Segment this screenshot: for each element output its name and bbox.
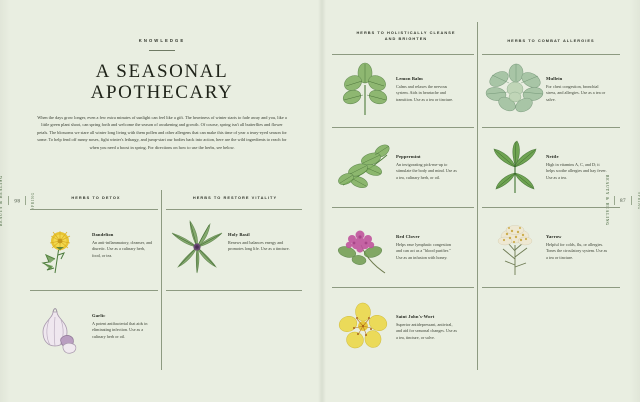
entry-description: Renews and balances energy and promotes … <box>228 240 290 254</box>
dandelion-text: Dandelion An anti-inflammatory, cleanser… <box>92 216 154 260</box>
entry-peppermint: Peppermint An invigorating pick-me-up to… <box>334 138 476 200</box>
entry-description: Helpful for colds, flu, or allergies. To… <box>546 242 608 262</box>
column-heading-line-1: HERBS TO HOLISTICALLY CLEANSE <box>356 30 455 35</box>
intro-paragraph: When the days grow longer, even a few ex… <box>36 114 288 151</box>
entry-holy-basil: Holy Basil Renews and balances energy an… <box>166 216 302 278</box>
rail-page-number-left: 86 <box>14 198 20 204</box>
red-clover-illustration <box>334 218 396 280</box>
column-rule <box>332 207 474 208</box>
entry-yarrow: Yarrow Helpful for colds, flu, or allerg… <box>484 218 622 280</box>
masthead: KNOWLEDGE A SEASONAL APOTHECARY <box>36 38 288 104</box>
entry-description: For chest congestion, bronchial stress, … <box>546 84 608 104</box>
holy-basil-illustration <box>166 216 228 278</box>
eyebrow-rule <box>149 50 175 51</box>
entry-name: Dandelion <box>92 232 154 237</box>
lemon-balm-text: Lemon Balm Calms and relaxes the nervous… <box>396 60 458 104</box>
entry-red-clover: Red Clover Helps ease lymphatic congesti… <box>334 218 476 280</box>
garlic-text: Garlic A potent antibacterial that aids … <box>92 297 154 341</box>
entry-mullein: Mullein For chest congestion, bronchial … <box>484 60 622 122</box>
entry-name: Lemon Balm <box>396 76 458 81</box>
mullein-illustration <box>484 60 546 122</box>
column-heading-vitality: HERBS TO RESTORE VITALITY <box>170 195 300 201</box>
column-divider <box>477 22 478 370</box>
left-page-margin-rail: BEAUTY & HEALING 86 Spring <box>4 0 30 402</box>
entry-description: An anti-inflammatory, cleanser, and diur… <box>92 240 154 260</box>
peppermint-text: Peppermint An invigorating pick-me-up to… <box>396 138 458 182</box>
column-rule <box>332 54 474 55</box>
peppermint-illustration <box>334 138 396 200</box>
column-heading-detox: HERBS TO DETOX <box>36 195 156 201</box>
entry-nettle: Nettle High in vitamins A, C, and D; it … <box>484 138 622 200</box>
saint-johns-wort-illustration <box>334 298 396 360</box>
column-rule <box>332 287 474 288</box>
yarrow-illustration <box>484 218 546 280</box>
book-spread: BEAUTY & HEALING 86 Spring KNOWLEDGE A S… <box>0 0 640 402</box>
column-heading-line-2: AND BRIGHTEN <box>385 36 427 41</box>
column-rule <box>482 207 620 208</box>
entry-description: An invigorating pick-me-up to stimulate … <box>396 162 458 182</box>
nettle-text: Nettle High in vitamins A, C, and D; it … <box>546 138 608 182</box>
garlic-illustration <box>30 297 92 359</box>
rail-section-left: BEAUTY & HEALING <box>0 175 3 226</box>
column-heading-allergies: HERBS TO COMBAT ALLERGIES <box>487 38 615 44</box>
entry-name: Yarrow <box>546 234 608 239</box>
entry-lemon-balm: Lemon Balm Calms and relaxes the nervous… <box>334 60 476 122</box>
saint-johns-wort-text: Saint John's-Wort Superior antidepressan… <box>396 298 458 342</box>
lemon-balm-illustration <box>334 60 396 122</box>
page-title-line-1: A SEASONAL <box>96 61 229 82</box>
column-rule <box>482 287 620 288</box>
column-rule <box>30 209 158 210</box>
mullein-text: Mullein For chest congestion, bronchial … <box>546 60 608 104</box>
entry-name: Nettle <box>546 154 608 159</box>
entry-garlic: Garlic A potent antibacterial that aids … <box>30 297 160 359</box>
entry-dandelion: Dandelion An anti-inflammatory, cleanser… <box>30 216 160 278</box>
left-page: BEAUTY & HEALING 86 Spring KNOWLEDGE A S… <box>0 0 322 402</box>
entry-description: Superior antidepressant, antiviral, and … <box>396 322 458 342</box>
column-rule <box>30 290 158 291</box>
column-heading-cleanse: HERBS TO HOLISTICALLY CLEANSE AND BRIGHT… <box>336 30 476 42</box>
column-rule <box>332 127 474 128</box>
entry-name: Garlic <box>92 313 154 318</box>
eyebrow-label: KNOWLEDGE <box>36 38 288 43</box>
rail-divider <box>8 197 9 206</box>
holy-basil-text: Holy Basil Renews and balances energy an… <box>228 216 290 253</box>
rail-divider <box>25 197 26 206</box>
entry-saint-johns-wort: Saint John's-Wort Superior antidepressan… <box>334 298 476 360</box>
entry-name: Peppermint <box>396 154 458 159</box>
nettle-illustration <box>484 138 546 200</box>
entry-name: Red Clover <box>396 234 458 239</box>
column-divider <box>161 190 162 370</box>
entry-name: Holy Basil <box>228 232 290 237</box>
rail-divider <box>631 196 632 205</box>
column-rule <box>166 290 302 291</box>
entry-description: High in vitamins A, C, and D; it helps s… <box>546 162 608 182</box>
dandelion-illustration <box>30 216 92 278</box>
column-rule <box>482 54 620 55</box>
red-clover-text: Red Clover Helps ease lymphatic congesti… <box>396 218 458 262</box>
yarrow-text: Yarrow Helpful for colds, flu, or allerg… <box>546 218 608 262</box>
entry-name: Saint John's-Wort <box>396 314 458 319</box>
entry-description: Calms and relaxes the nervous system. Ai… <box>396 84 458 104</box>
right-page: Spring 87 BEAUTY & HEALING HERBS TO HOLI… <box>322 0 640 402</box>
column-rule <box>482 127 620 128</box>
page-title-line-2: APOTHECARY <box>91 82 234 103</box>
page-title: A SEASONAL APOTHECARY <box>36 61 288 104</box>
entry-name: Mullein <box>546 76 608 81</box>
entry-description: Helps ease lymphatic congestion and can … <box>396 242 458 262</box>
entry-description: A potent antibacterial that aids in elim… <box>92 321 154 341</box>
column-rule <box>166 209 302 210</box>
rail-season-left: Spring <box>31 192 35 210</box>
